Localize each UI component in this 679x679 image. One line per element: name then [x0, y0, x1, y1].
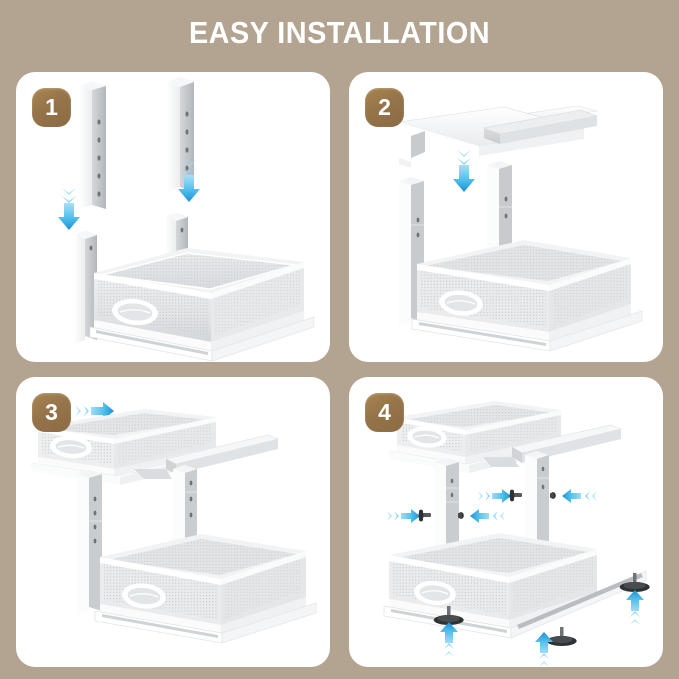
page-title: EASY INSTALLATION — [24, 16, 655, 50]
down-arrow-left — [58, 188, 80, 230]
slide-rail-frame — [399, 106, 597, 168]
installation-infographic: EASY INSTALLATION — [0, 0, 679, 679]
vertical-post-left — [80, 82, 106, 209]
vertical-post-right — [525, 451, 549, 551]
locking-screw-lower-left — [419, 510, 431, 522]
mesh-basket — [90, 248, 314, 361]
locking-screw-upper-left — [510, 490, 522, 502]
step-1-badge: 1 — [32, 88, 71, 127]
vertical-post-right — [168, 77, 194, 192]
locking-screw-lower-right — [458, 512, 464, 519]
basket-post-left — [75, 231, 97, 344]
step-2-badge: 2 — [365, 88, 404, 127]
foot-arrow-center — [535, 632, 553, 667]
foot-pad-center — [547, 627, 577, 646]
step-2-panel: 2 — [349, 72, 663, 362]
screw-arrow-upper-left — [478, 489, 511, 503]
lower-mesh-basket — [384, 533, 646, 638]
vertical-post-left — [77, 470, 102, 615]
mesh-basket — [412, 240, 642, 351]
screw-arrow-upper-right — [562, 489, 597, 503]
screw-arrow-lower-left — [387, 509, 420, 523]
down-arrow-center — [453, 150, 475, 192]
step-3-panel: 3 — [16, 377, 330, 667]
step-3-badge: 3 — [32, 393, 71, 432]
step-1-panel: 1 — [16, 72, 330, 362]
screw-arrow-lower-right — [470, 509, 505, 523]
foot-arrow-right — [626, 590, 644, 625]
lower-mesh-basket — [95, 534, 316, 643]
step-4-panel: 4 — [349, 377, 663, 667]
step-4-badge: 4 — [365, 393, 404, 432]
locking-screw-upper-right — [550, 492, 556, 499]
